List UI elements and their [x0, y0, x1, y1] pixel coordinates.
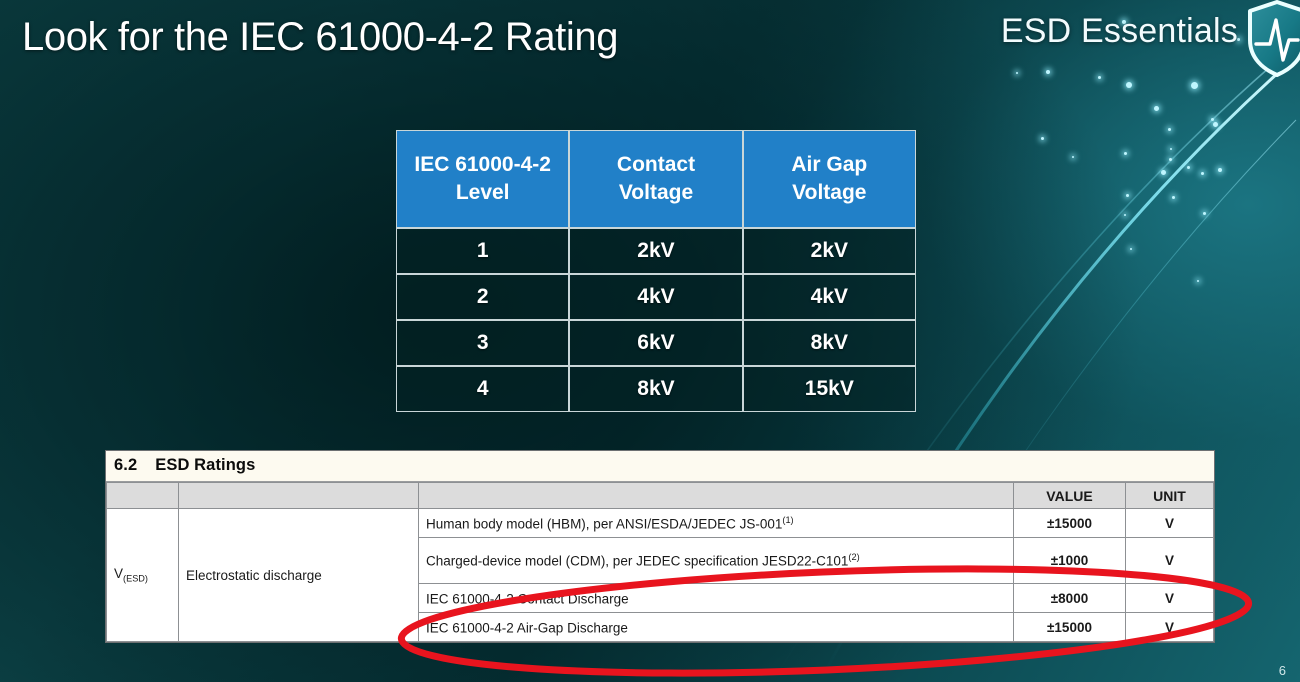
column-header-value: VALUE: [1014, 483, 1126, 509]
cell-unit: V: [1126, 509, 1214, 538]
particle-dot: [1124, 214, 1126, 216]
particle-dot: [1172, 196, 1175, 199]
particle-dot: [1124, 152, 1127, 155]
slide-canvas: Look for the IEC 61000-4-2 Rating ESD Es…: [0, 0, 1300, 682]
cell-air-gap-voltage: 15kV: [743, 366, 916, 412]
table-row: 1 2kV 2kV: [396, 228, 916, 274]
column-header-air-gap-voltage: Air Gap Voltage: [743, 130, 916, 228]
particle-dot: [1130, 248, 1132, 250]
cell-unit: V: [1126, 538, 1214, 584]
cell-value: ±15000: [1014, 613, 1126, 642]
cell-level: 1: [396, 228, 569, 274]
cell-condition: IEC 61000-4-2 Air-Gap Discharge: [419, 613, 1014, 642]
particle-dot: [1201, 172, 1204, 175]
particle-dot: [1170, 148, 1172, 150]
particle-dot: [1213, 122, 1218, 127]
table-header-row: VALUE UNIT: [107, 483, 1214, 509]
cell-air-gap-voltage: 4kV: [743, 274, 916, 320]
cell-value: ±8000: [1014, 584, 1126, 613]
cell-contact-voltage: 4kV: [569, 274, 742, 320]
particle-dot: [1211, 118, 1214, 121]
datasheet-section-title: 6.2ESD Ratings: [106, 451, 1214, 482]
section-title-text: ESD Ratings: [155, 456, 255, 474]
cell-symbol: V(ESD): [107, 509, 179, 642]
particle-dot: [1072, 156, 1074, 158]
table-row: 4 8kV 15kV: [396, 366, 916, 412]
cell-value: ±15000: [1014, 509, 1126, 538]
cell-contact-voltage: 2kV: [569, 228, 742, 274]
cell-level: 3: [396, 320, 569, 366]
particle-dot: [1168, 128, 1171, 131]
particle-dot: [1126, 82, 1132, 88]
column-header-symbol: [107, 483, 179, 509]
particle-dot: [1203, 212, 1206, 215]
particle-dot: [1154, 106, 1159, 111]
table-header-row: IEC 61000-4-2 Level Contact Voltage Air …: [396, 130, 916, 228]
cell-unit: V: [1126, 613, 1214, 642]
particle-dot: [1218, 168, 1222, 172]
cell-condition: Human body model (HBM), per ANSI/ESDA/JE…: [419, 509, 1014, 538]
cell-value: ±1000: [1014, 538, 1126, 584]
particle-dot: [1187, 166, 1190, 169]
cell-unit: V: [1126, 584, 1214, 613]
page-number: 6: [1279, 663, 1286, 678]
particle-dot: [1191, 82, 1198, 89]
cell-contact-voltage: 8kV: [569, 366, 742, 412]
cell-level: 2: [396, 274, 569, 320]
particle-dot: [1161, 170, 1166, 175]
column-header-condition: [419, 483, 1014, 509]
cell-air-gap-voltage: 8kV: [743, 320, 916, 366]
cell-description: Electrostatic discharge: [179, 509, 419, 642]
table-row: 3 6kV 8kV: [396, 320, 916, 366]
page-title: Look for the IEC 61000-4-2 Rating: [22, 15, 618, 60]
column-header-contact-voltage: Contact Voltage: [569, 130, 742, 228]
column-header-level: IEC 61000-4-2 Level: [396, 130, 569, 228]
particle-dot: [1197, 280, 1199, 282]
cell-air-gap-voltage: 2kV: [743, 228, 916, 274]
esd-ratings-table: VALUE UNIT V(ESD) Electrostatic discharg…: [106, 482, 1214, 642]
section-number: 6.2: [114, 456, 137, 474]
cell-contact-voltage: 6kV: [569, 320, 742, 366]
particle-dot: [1098, 76, 1101, 79]
particle-dot: [1126, 194, 1129, 197]
iec-level-table: IEC 61000-4-2 Level Contact Voltage Air …: [396, 130, 916, 412]
column-header-description: [179, 483, 419, 509]
particle-dot: [1169, 158, 1172, 161]
cell-condition: Charged-device model (CDM), per JEDEC sp…: [419, 538, 1014, 584]
particle-dot: [1046, 70, 1050, 74]
brand-name: ESD Essentials: [1001, 12, 1238, 51]
column-header-unit: UNIT: [1126, 483, 1214, 509]
shield-pulse-icon: [1246, 0, 1300, 78]
cell-condition: IEC 61000-4-2 Contact Discharge: [419, 584, 1014, 613]
table-row: V(ESD) Electrostatic discharge Human bod…: [107, 509, 1214, 538]
datasheet-excerpt: 6.2ESD Ratings VALUE UNIT V(ESD) Electro…: [105, 450, 1215, 643]
particle-dot: [1041, 137, 1044, 140]
table-row: 2 4kV 4kV: [396, 274, 916, 320]
cell-level: 4: [396, 366, 569, 412]
particle-dot: [1016, 72, 1018, 74]
